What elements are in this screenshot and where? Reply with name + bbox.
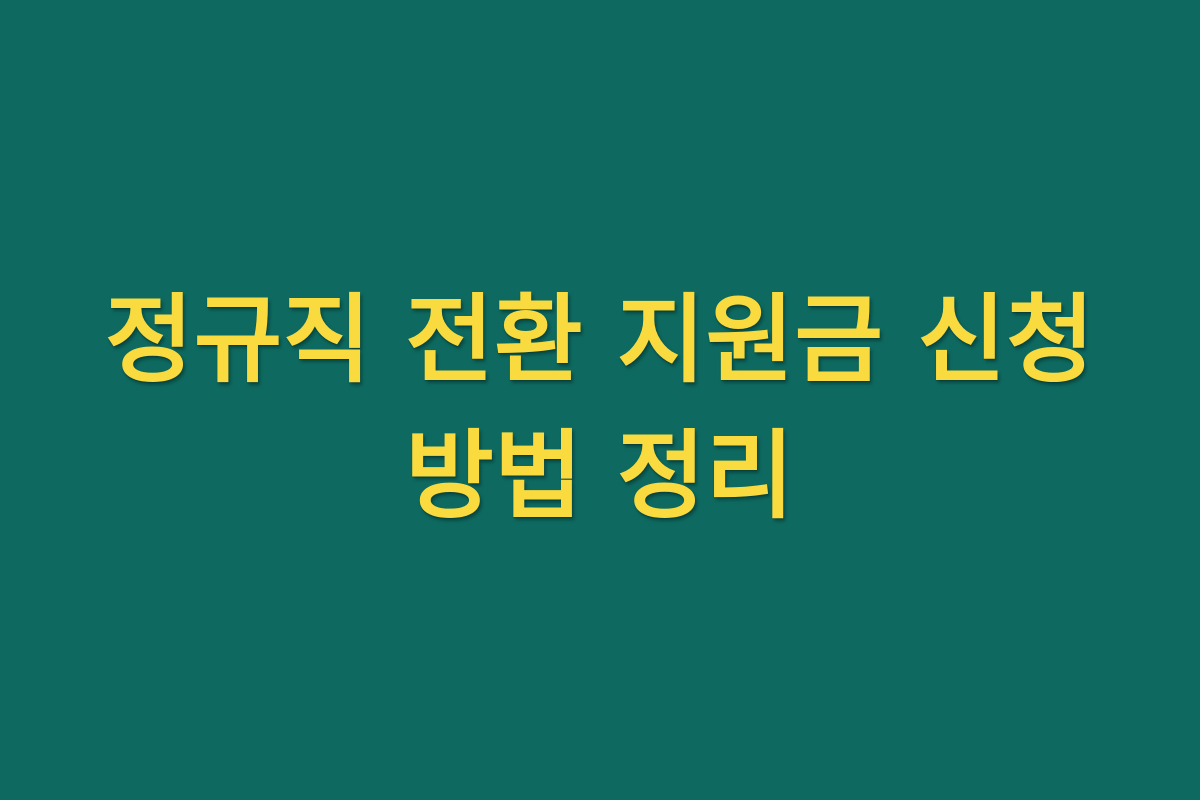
page-title: 정규직 전환 지원금 신청 방법 정리	[70, 272, 1130, 544]
title-line-1: 정규직 전환 지원금 신청	[70, 272, 1130, 408]
thumbnail-banner: 정규직 전환 지원금 신청 방법 정리	[0, 0, 1200, 800]
title-line-2: 방법 정리	[70, 408, 1130, 544]
